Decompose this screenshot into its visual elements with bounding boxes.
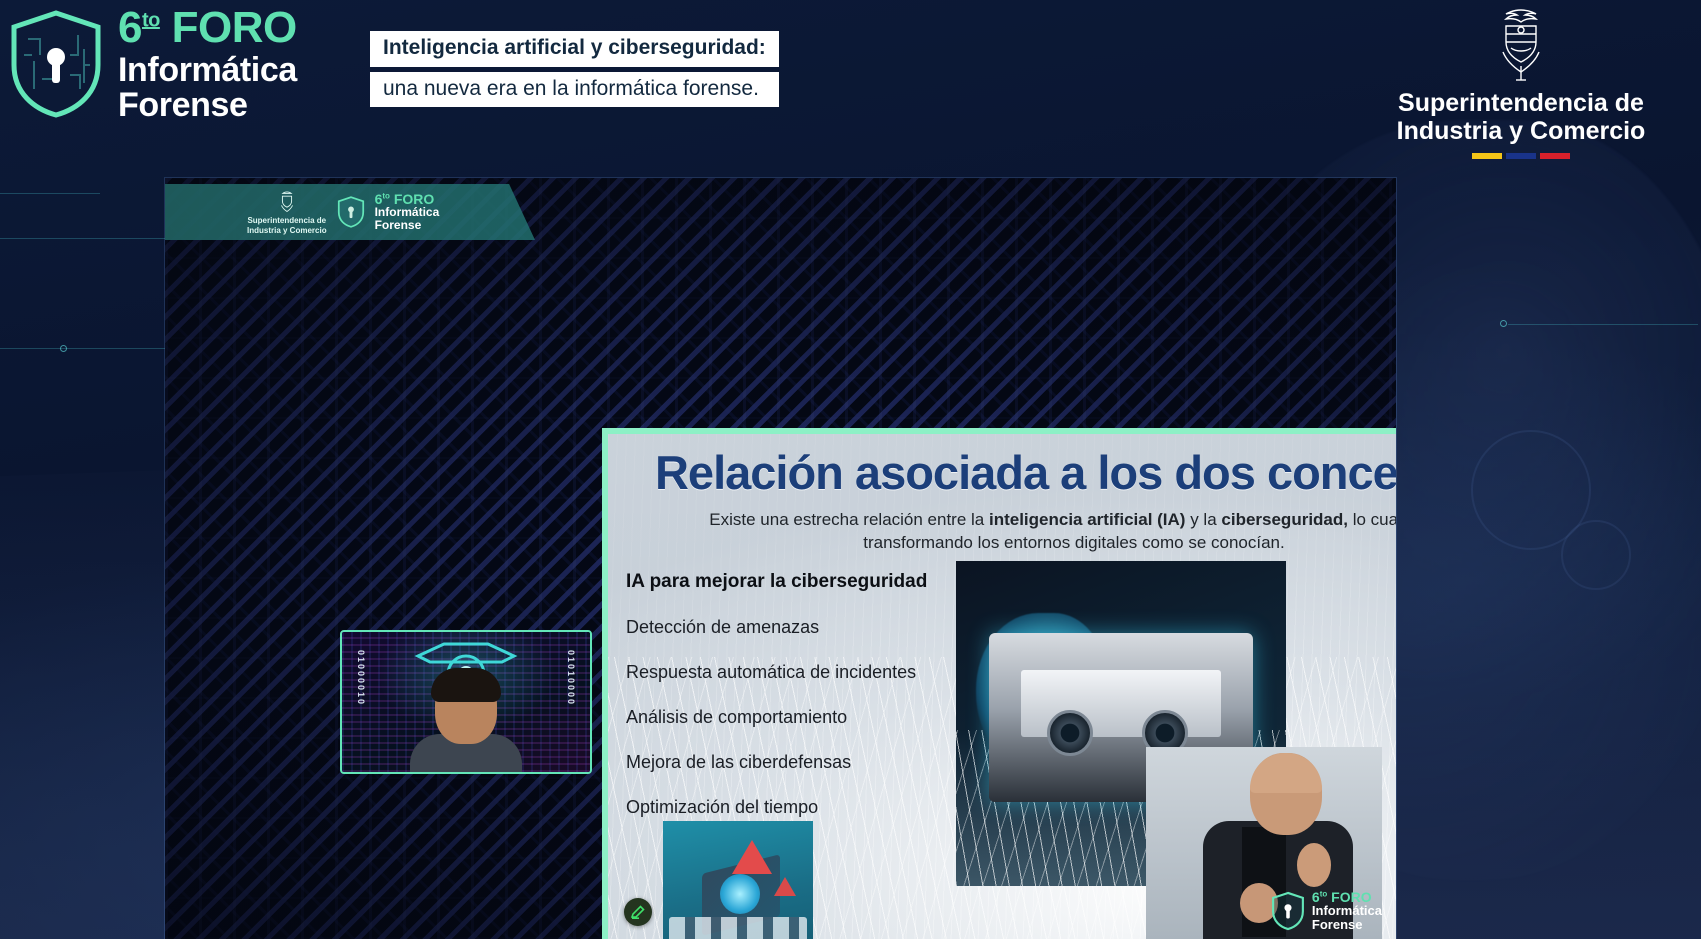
stream-foro-edition-suffix: to [382,191,390,200]
background-node-dot-1 [60,345,67,352]
player-watermark: 6to FORO Informática Forense [1271,890,1382,933]
slide-subtitle-part1: Existe una estrecha relación entre la [709,510,989,529]
stream-foro-edition-line: 6to FORO [375,192,440,206]
background-circuit-trace-3 [0,348,190,349]
background-ring-2 [1561,520,1631,590]
talk-title-line1: Inteligencia artificial y ciberseguridad… [370,31,779,67]
stream-institution-line1: Superintendencia de [247,216,327,225]
institution-name-line2: Industria y Comercio [1351,117,1691,145]
institution-brand: Superintendencia de Industria y Comercio [1351,4,1691,159]
stream-foro-line3: Forense [375,219,440,232]
watermark-text-block: 6to FORO Informática Forense [1312,890,1382,933]
stream-coat-of-arms-icon [276,189,298,215]
list-item: Optimización del tiempo [626,797,946,818]
forum-brand-line3: Forense [118,88,297,122]
cassette-reel-left [1047,710,1093,756]
webcam-binary-right: 01010000 [566,650,576,706]
background-ring-1 [1471,430,1591,550]
flag-stripe-yellow [1472,153,1502,159]
list-item: Detección de amenazas [626,617,946,638]
forum-edition-suffix: to [142,9,160,31]
shield-lock-icon [8,9,104,119]
forum-brand-text: 6to FORO Informática Forense [118,6,297,122]
slide-subtitle: Existe una estrecha relación entre la in… [626,509,1396,555]
watermark-edition-line: 6to FORO [1312,890,1382,904]
institution-name-line1: Superintendencia de [1351,89,1691,117]
talk-title-banner: Inteligencia artificial y ciberseguridad… [370,31,779,107]
flag-stripe-blue [1506,153,1536,159]
slide-list-heading: IA para mejorar la ciberseguridad [626,571,946,593]
thumbnail-globe-graphic [720,874,760,914]
warning-triangle-icon [732,840,772,874]
stream-shield-lock-icon [337,196,365,228]
slide-subtitle-bold2: ciberseguridad, [1221,510,1348,529]
background-circuit-trace-1 [0,193,100,194]
list-item: Mejora de las ciberdefensas [626,752,946,773]
list-item: Respuesta automática de incidentes [626,662,946,683]
slide-subtitle-bold1: inteligencia artificial (IA) [989,510,1186,529]
colombia-coat-of-arms-icon [1485,4,1557,86]
forum-brand-line2: Informática [118,53,297,87]
forum-brand: 6to FORO Informática Forense [8,6,297,122]
forum-edition-number: 6 [118,3,142,52]
pencil-edit-glyph [630,904,646,920]
institution-name: Superintendencia de Industria y Comercio [1351,89,1691,145]
presenter-figure [412,668,520,772]
slide-subtitle-part2: y la [1185,510,1221,529]
colombia-flag-bar [1351,153,1691,159]
list-item: Análisis de comportamiento [626,707,946,728]
page-header: 6to FORO Informática Forense Inteligenci… [0,0,1701,148]
warning-triangle-small-icon [774,877,796,896]
interpreter-hand-right [1297,843,1331,887]
webcam-binary-left: 01000010 [356,650,366,706]
watermark-edition-suffix: to [1320,889,1328,898]
pencil-edit-icon[interactable] [624,898,652,926]
video-player[interactable]: Superintendencia de Industria y Comercio… [165,178,1396,939]
watermark-line2: Informática [1312,904,1382,919]
presenter-webcam-tile[interactable]: 01000010 01010000 [340,630,592,774]
watermark-line3: Forense [1312,918,1382,933]
thumbnail-workstations-graphic [669,917,807,939]
slide-title: Relación asociada a los dos conceptos [626,448,1396,497]
slide-thumbnail-image [663,821,813,939]
background-circuit-trace-4 [1508,324,1698,325]
presenter-hair [431,668,501,702]
stream-header-banner: Superintendencia de Industria y Comercio… [165,184,535,240]
forum-foro-label: FORO [172,3,297,52]
stream-foro-block: 6to FORO Informática Forense [375,192,440,232]
forum-edition-line: 6to FORO [118,6,297,50]
talk-title-line2: una nueva era en la informática forense. [370,72,779,108]
stream-institution-line2: Industria y Comercio [247,226,327,235]
background-node-dot-2 [1500,320,1507,327]
flag-stripe-red [1540,153,1570,159]
watermark-shield-lock-icon [1271,891,1305,931]
stream-institution-block: Superintendencia de Industria y Comercio [247,189,327,234]
